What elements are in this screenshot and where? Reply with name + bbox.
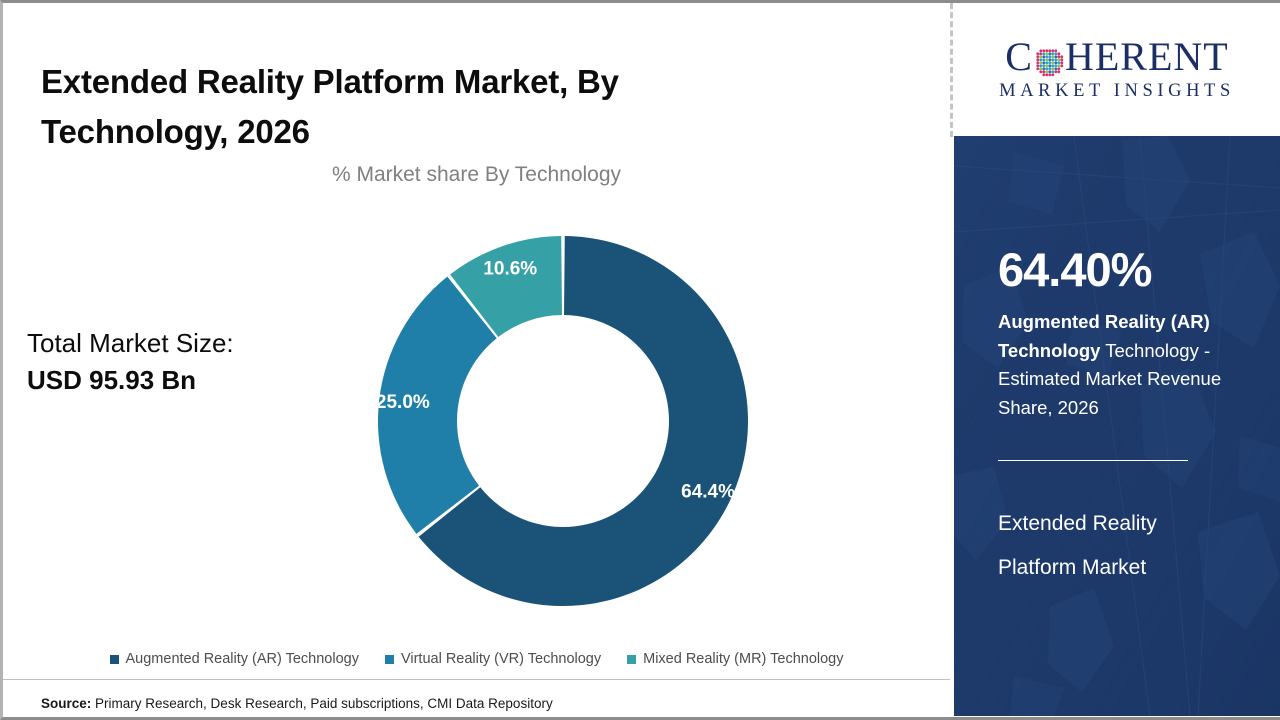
logo-word-start: C xyxy=(1005,37,1033,77)
stat-value: 64.40% xyxy=(998,246,1151,293)
legend-item[interactable]: Augmented Reality (AR) Technology xyxy=(110,651,359,667)
legend-swatch-icon xyxy=(385,655,394,664)
legend-swatch-icon xyxy=(110,655,119,664)
vertical-dashed-divider xyxy=(950,3,953,137)
logo-word-end: HERENT xyxy=(1065,37,1229,77)
donut-slice-label: 10.6% xyxy=(483,259,537,280)
infographic-root: Extended Reality Platform Market, By Tec… xyxy=(0,0,1280,720)
panel-footer-line-2: Platform Market xyxy=(998,546,1248,590)
legend-item[interactable]: Mixed Reality (MR) Technology xyxy=(627,651,843,667)
donut-slice-label: 25.0% xyxy=(378,392,430,413)
legend-item[interactable]: Virtual Reality (VR) Technology xyxy=(385,651,601,667)
legend-item-label: Augmented Reality (AR) Technology xyxy=(126,651,359,667)
donut-chart: 64.4%25.0%10.6% xyxy=(378,231,748,611)
total-market-size-label: Total Market Size: xyxy=(27,325,234,362)
stat-description: Augmented Reality (AR) Technology Techno… xyxy=(998,308,1246,423)
logo-wordmark: C HERENT xyxy=(1005,37,1228,77)
chart-subtitle: % Market share By Technology xyxy=(3,163,950,187)
donut-slice-label: 64.4% xyxy=(681,482,735,503)
legend-item-label: Mixed Reality (MR) Technology xyxy=(643,651,843,667)
logo-tagline: MARKET INSIGHTS xyxy=(999,81,1235,102)
panel-footer: Extended Reality Platform Market xyxy=(998,502,1248,590)
left-content-column: Extended Reality Platform Market, By Tec… xyxy=(3,3,950,717)
panel-divider xyxy=(998,460,1188,461)
brand-logo: C HERENT MARKET INSIGHTS xyxy=(954,3,1280,136)
right-panel-column: C HERENT MARKET INSIGHTS xyxy=(954,3,1280,717)
donut-chart-svg: 64.4%25.0%10.6% xyxy=(378,231,748,611)
total-market-size-block: Total Market Size: USD 95.93 Bn xyxy=(27,325,234,399)
source-text: Primary Research, Desk Research, Paid su… xyxy=(95,696,553,711)
source-divider xyxy=(3,679,950,680)
total-market-size-value: USD 95.93 Bn xyxy=(27,362,234,399)
chart-legend: Augmented Reality (AR) TechnologyVirtual… xyxy=(3,651,950,667)
page-title: Extended Reality Platform Market, By Tec… xyxy=(41,57,801,156)
panel-footer-line-1: Extended Reality xyxy=(998,502,1248,546)
source-label: Source: xyxy=(41,696,91,711)
source-row: Source: Primary Research, Desk Research,… xyxy=(41,696,553,711)
globe-dots-icon xyxy=(1034,44,1064,74)
panel-content: 64.40% Augmented Reality (AR) Technology… xyxy=(998,136,1248,716)
legend-swatch-icon xyxy=(627,655,636,664)
highlight-panel: 64.40% Augmented Reality (AR) Technology… xyxy=(954,136,1280,716)
legend-item-label: Virtual Reality (VR) Technology xyxy=(401,651,601,667)
